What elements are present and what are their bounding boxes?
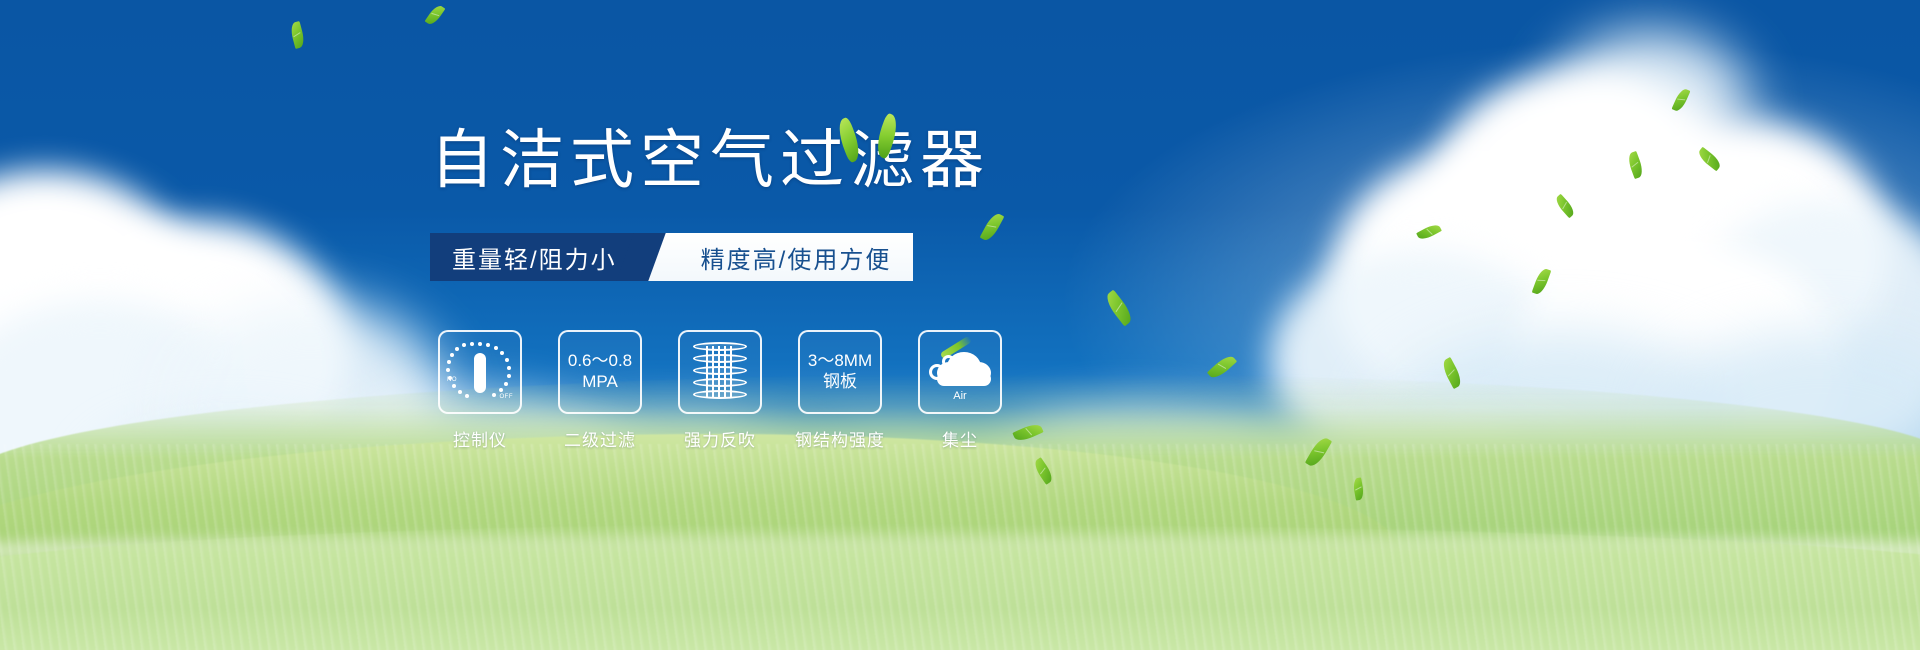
feature-item-steel-strength[interactable]: 3〜8MM 钢板 钢结构强度 <box>798 330 882 451</box>
gauge-icon: NO OFF <box>448 341 512 403</box>
feature-icon-box: 0.6〜0.8 MPA <box>558 330 642 414</box>
gauge-off-label: OFF <box>500 394 514 400</box>
feature-icon-box: NO OFF <box>438 330 522 414</box>
hero-content: 自洁式空气过滤器 重量轻/阻力小 精度高/使用方便 <box>0 0 1920 650</box>
feature-label: 钢结构强度 <box>795 426 885 451</box>
steel-value-line1: 3〜8MM <box>808 351 872 372</box>
air-label: Air <box>929 390 991 402</box>
pressure-value-line1: 0.6〜0.8 <box>568 351 632 372</box>
subtitle-ribbon: 重量轻/阻力小 精度高/使用方便 <box>430 233 913 281</box>
air-cloud-icon: Air <box>929 346 991 398</box>
title-leaves-icon <box>835 110 915 168</box>
title-leaf-right-icon <box>872 113 902 160</box>
steel-value-line2: 钢板 <box>823 372 857 393</box>
gauge-no-label: NO <box>447 377 457 383</box>
feature-item-reverse-blow[interactable]: 强力反吹 <box>678 330 762 451</box>
feature-label: 强力反吹 <box>684 426 756 451</box>
feature-icon-box: 3〜8MM 钢板 <box>798 330 882 414</box>
filter-cartridge-icon <box>693 342 747 402</box>
swirl-ring-icon <box>929 364 945 380</box>
feature-item-dust-collection[interactable]: Air 集尘 <box>918 330 1002 451</box>
title-leaf-left-icon <box>833 117 864 164</box>
feature-list: NO OFF 控制仪 0.6〜0.8 MPA 二级过滤 <box>438 330 1002 451</box>
pressure-value-line2: MPA <box>582 372 618 393</box>
gauge-needle-icon <box>474 353 486 393</box>
feature-item-secondary-filtration[interactable]: 0.6〜0.8 MPA 二级过滤 <box>558 330 642 451</box>
feature-icon-box <box>678 330 762 414</box>
ribbon-left-text: 重量轻/阻力小 <box>430 233 647 281</box>
feature-label: 集尘 <box>942 426 978 451</box>
feature-label: 二级过滤 <box>564 426 636 451</box>
swirl-ring-icon <box>942 355 955 368</box>
feature-label: 控制仪 <box>453 426 507 451</box>
hero-banner: 自洁式空气过滤器 重量轻/阻力小 精度高/使用方便 <box>0 0 1920 650</box>
ribbon-right-text: 精度高/使用方便 <box>673 233 914 281</box>
feature-item-controller[interactable]: NO OFF 控制仪 <box>438 330 522 451</box>
feature-icon-box: Air <box>918 330 1002 414</box>
